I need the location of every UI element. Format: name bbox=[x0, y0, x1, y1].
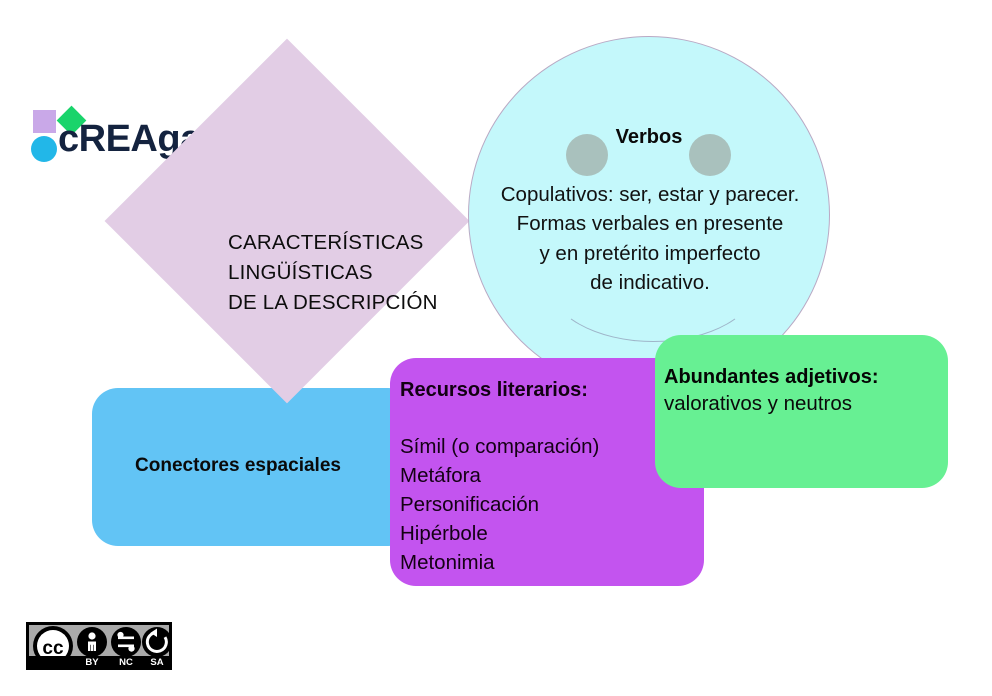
list-item: Metáfora bbox=[400, 461, 690, 490]
list-item: Símil (o comparación) bbox=[400, 432, 690, 461]
diamond-title-line3: DE LA DESCRIPCIÓN bbox=[228, 288, 498, 318]
verbos-title: Verbos bbox=[468, 126, 830, 149]
cc-by-nc-sa-icon: cc BY NC SA BY NC SA bbox=[26, 622, 172, 670]
verbos-body-text: Copulativos: ser, estar y parecer. Forma… bbox=[460, 180, 840, 297]
svg-text:NC: NC bbox=[119, 657, 133, 668]
slide-canvas: cREAgal Conectores espaciales CARACTERÍS… bbox=[0, 0, 992, 696]
conectores-espaciales-label: Conectores espaciales bbox=[92, 455, 384, 477]
svg-text:SA: SA bbox=[150, 657, 163, 668]
list-item: Hipérbole bbox=[400, 519, 690, 548]
list-item: Metonimia bbox=[400, 548, 690, 577]
abundantes-adjetivos-subtitle: valorativos y neutros bbox=[664, 392, 852, 416]
diamond-title: CARACTERÍSTICAS LINGÜÍSTICAS DE LA DESCR… bbox=[228, 228, 498, 318]
diamond-title-line2: LINGÜÍSTICAS bbox=[228, 258, 498, 288]
logo-square-icon bbox=[33, 110, 56, 133]
abundantes-adjetivos-title: Abundantes adjetivos: bbox=[664, 366, 878, 389]
recursos-literarios-title: Recursos literarios: bbox=[400, 379, 588, 402]
svg-text:cc: cc bbox=[42, 638, 64, 659]
diamond-title-line1: CARACTERÍSTICAS bbox=[228, 228, 498, 258]
creative-commons-license-badge[interactable]: cc BY NC SA BY NC SA bbox=[26, 622, 172, 670]
svg-text:BY: BY bbox=[85, 657, 99, 668]
recursos-literarios-list: Símil (o comparación) Metáfora Personifi… bbox=[400, 432, 690, 578]
logo-circle-icon bbox=[31, 136, 57, 162]
diamond-shape bbox=[105, 39, 470, 404]
list-item: Personificación bbox=[400, 490, 690, 519]
